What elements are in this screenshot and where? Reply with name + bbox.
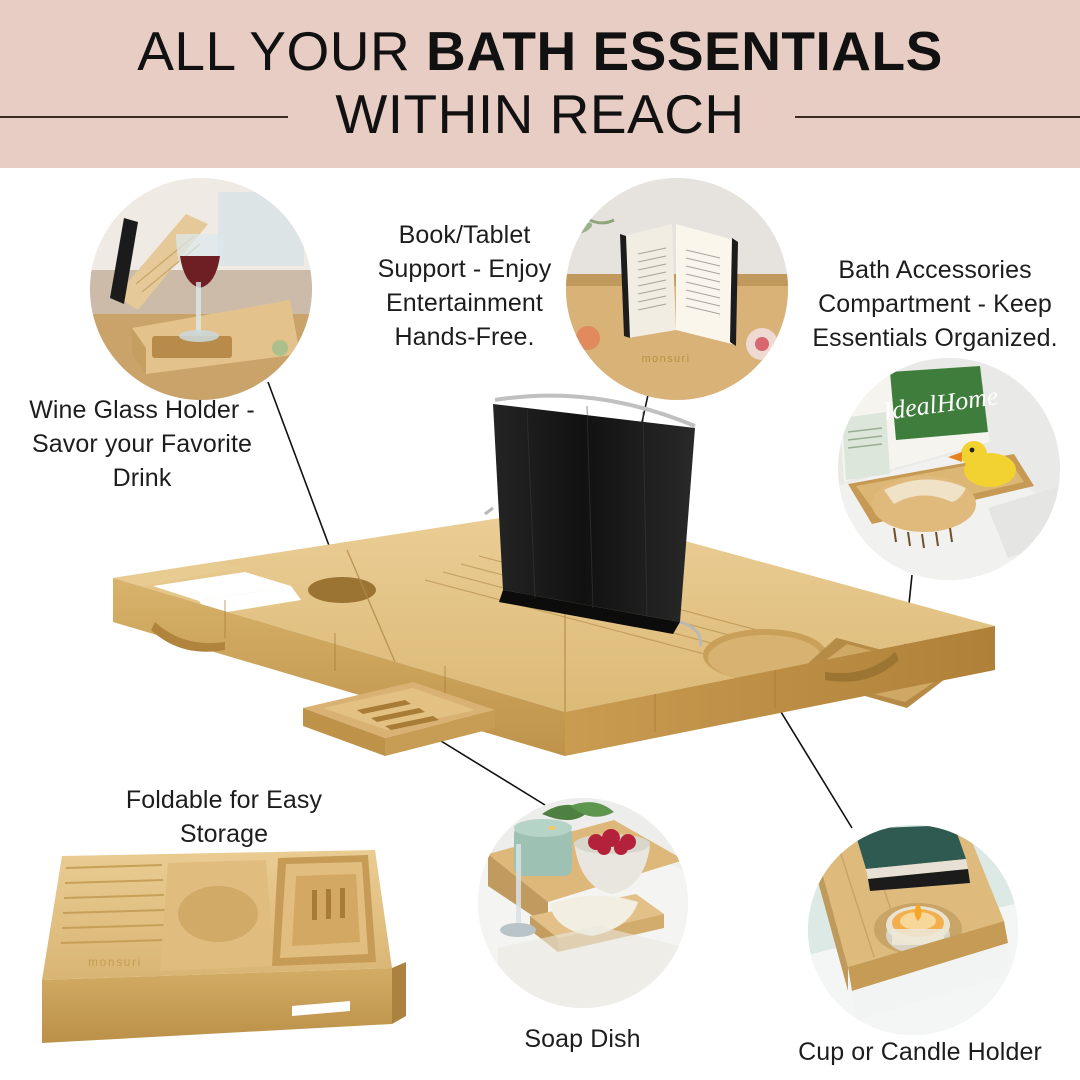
soap-dish-inset bbox=[478, 798, 688, 1008]
stacked-books bbox=[854, 825, 970, 891]
book-support-inset: monsuri bbox=[566, 178, 788, 400]
callout-wine-glass-holder: Wine Glass Holder - Savor your Favorite … bbox=[8, 393, 276, 495]
title-bold-part: BATH ESSENTIALS bbox=[426, 20, 943, 82]
wine-glass-inset bbox=[90, 178, 312, 400]
title-light-part: ALL YOUR bbox=[137, 20, 426, 82]
header-divider-right bbox=[795, 116, 1080, 118]
header-banner: ALL YOUR BATH ESSENTIALS WITHIN REACH bbox=[0, 0, 1080, 168]
page-title-line-1: ALL YOUR BATH ESSENTIALS bbox=[0, 20, 1080, 82]
header-divider-left bbox=[0, 116, 288, 118]
callout-foldable-storage: Foldable for Easy Storage bbox=[100, 783, 348, 851]
accessories-inset: IdealHome bbox=[838, 358, 1060, 580]
callout-book-tablet-support: Book/Tablet Support - Enjoy Entertainmen… bbox=[352, 218, 577, 354]
product-folded-illustration: monsuri bbox=[20, 838, 415, 1063]
brand-engraving: monsuri bbox=[88, 955, 142, 969]
candle-inset bbox=[808, 825, 1018, 1035]
callout-soap-dish: Soap Dish bbox=[455, 1022, 710, 1056]
infographic-page: ALL YOUR BATH ESSENTIALS WITHIN REACH bbox=[0, 0, 1080, 1080]
svg-text:monsuri: monsuri bbox=[642, 353, 691, 365]
page-title-line-2: WITHIN REACH bbox=[0, 83, 1080, 145]
mint-candle-jar bbox=[514, 819, 572, 876]
wine-glass-slot bbox=[308, 577, 376, 603]
open-book bbox=[620, 224, 738, 346]
folded-cup-recess bbox=[178, 886, 258, 942]
callout-bath-accessories: Bath Accessories Compartment - Keep Esse… bbox=[792, 253, 1078, 355]
callout-cup-candle-holder: Cup or Candle Holder bbox=[770, 1035, 1070, 1069]
